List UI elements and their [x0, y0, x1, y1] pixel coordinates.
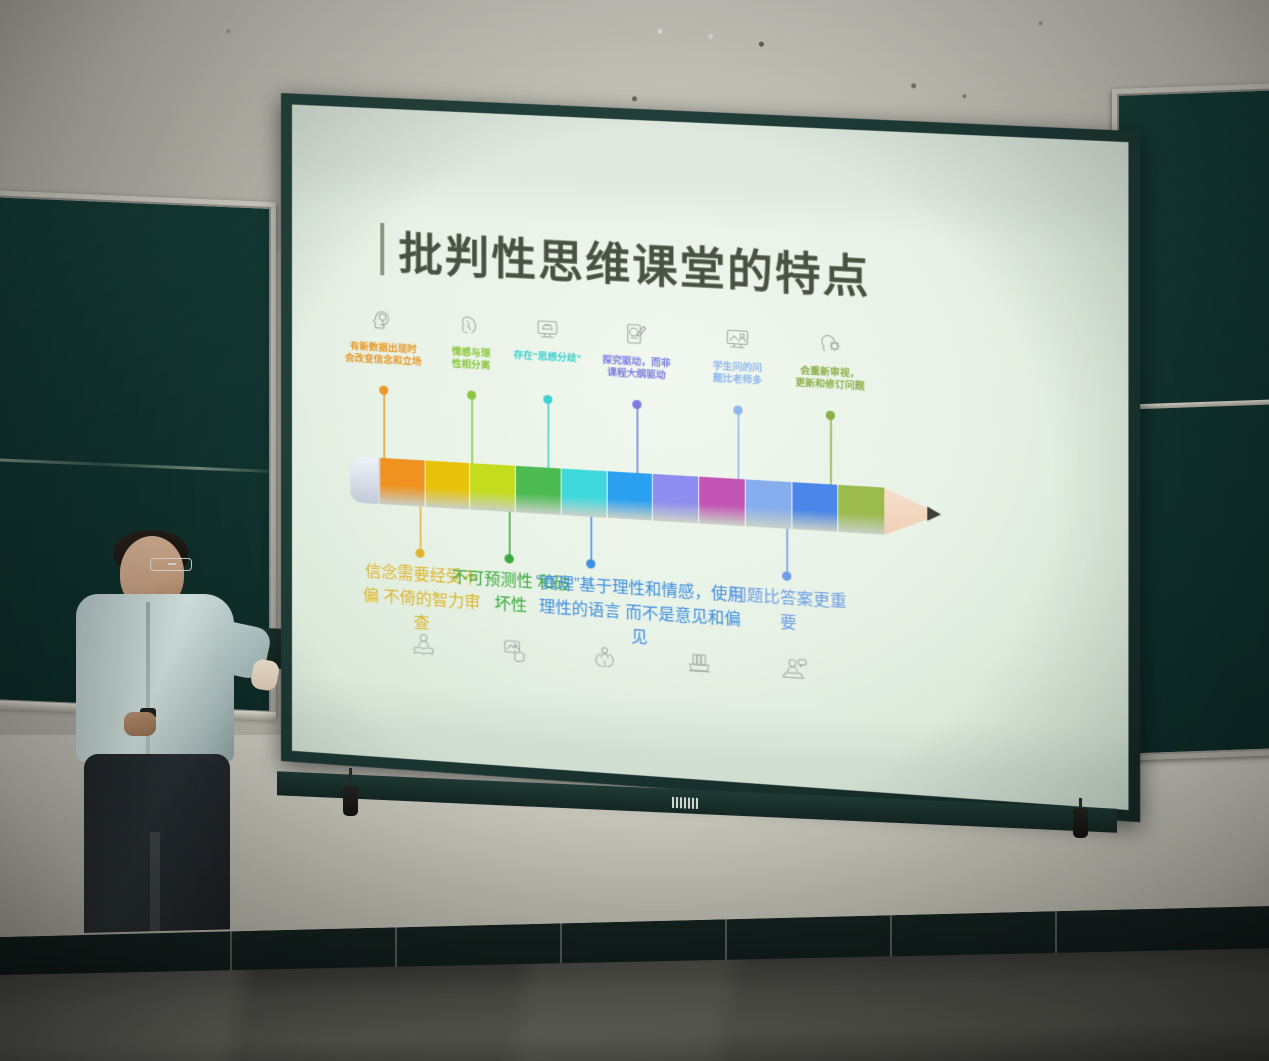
top-connector-3 — [547, 399, 549, 472]
bottom-node-label-4[interactable]: 问题比答案更重要 — [727, 580, 850, 637]
eyeglasses-icon — [150, 558, 192, 571]
title-accent-bar — [380, 223, 384, 275]
archive-books-icon — [686, 649, 713, 682]
bottom-connector-4 — [786, 529, 788, 576]
top-node-6[interactable]: 会重新审视， 更新和修订问题 — [773, 328, 888, 395]
pencil-segment-3 — [471, 463, 516, 512]
screen-weight-right[interactable] — [1073, 808, 1088, 838]
page-title: 批判性思维课堂的特点 — [398, 218, 870, 307]
bottom-connector-dot-3 — [586, 559, 595, 569]
presenter-right-hand — [250, 658, 281, 692]
top-connector-1 — [383, 390, 385, 462]
brain-gear-icon — [773, 328, 888, 366]
pencil-infographic: 有新数据出现时 会改变信念和立场情感与理 性相分离存在“思想分歧”探究驱动，而非… — [332, 305, 1086, 686]
pencil-segment-6 — [607, 471, 653, 520]
presenter-shirt — [76, 594, 234, 762]
top-connector-6 — [830, 415, 832, 489]
pencil-segment-4 — [516, 466, 562, 515]
chalkboard-divider — [1119, 399, 1269, 410]
slide-title-block: 批判性思维课堂的特点 — [380, 217, 1086, 318]
pencil-eraser — [350, 456, 380, 504]
top-node-label-4: 探究驱动，而非 课程大纲驱动 — [580, 353, 693, 384]
top-connector-5 — [737, 410, 739, 483]
pencil-segment-1 — [380, 458, 425, 507]
presenter-left-hand — [124, 712, 156, 736]
top-connector-2 — [471, 395, 473, 468]
top-node-label-6: 会重新审视， 更新和修订问题 — [773, 364, 888, 395]
pencil-segment-8 — [699, 477, 745, 527]
top-connector-dot-3 — [543, 395, 552, 405]
bottom-connector-1 — [420, 506, 422, 552]
bottom-connector-2 — [509, 512, 511, 559]
top-connector-dot-2 — [467, 390, 476, 400]
pencil-segment-10 — [792, 482, 839, 532]
bottom-connector-dot-2 — [505, 554, 514, 564]
projection-screen-frame: 批判性思维课堂的特点 有新数据出现时 会改变信念和立场情感与理 性相分离存在“思… — [281, 93, 1140, 822]
pencil-graphic — [350, 456, 941, 538]
document-pen-icon — [580, 318, 693, 355]
person-laptop-chat-icon — [781, 655, 808, 688]
presentation-slide: 批判性思维课堂的特点 有新数据出现时 会改变信念和立场情感与理 性相分离存在“思… — [292, 104, 1128, 810]
pencil-segment-7 — [653, 474, 699, 523]
projection-screen-assembly: 批判性思维课堂的特点 有新数据出现时 会改变信念和立场情感与理 性相分离存在“思… — [281, 93, 1140, 822]
bottom-connector-dot-1 — [416, 548, 425, 558]
projection-screen-surface: 批判性思维课堂的特点 有新数据出现时 会改变信念和立场情感与理 性相分离存在“思… — [292, 104, 1128, 810]
hands-nurture-icon — [591, 642, 618, 675]
bottom-connector-dot-4 — [782, 571, 791, 581]
top-node-4[interactable]: 探究驱动，而非 课程大纲驱动 — [580, 318, 693, 384]
top-connector-dot-4 — [632, 400, 641, 410]
screen-brand-logo — [672, 797, 698, 809]
person-reading-book-icon — [410, 631, 436, 664]
pencil-segment-9 — [746, 479, 792, 529]
shirt-placket — [146, 602, 150, 762]
hand-screen-icon — [502, 636, 528, 669]
bottom-node-label-3[interactable]: “真理”基于理性和情感，使用理性的语言 而不是意见和偏见 — [532, 568, 748, 655]
top-connector-4 — [636, 404, 638, 477]
classroom-scene: 批判性思维课堂的特点 有新数据出现时 会改变信念和立场情感与理 性相分离存在“思… — [0, 0, 1269, 1061]
top-connector-dot-5 — [733, 405, 742, 415]
pencil-lead-icon — [927, 507, 941, 522]
pencil-segment-5 — [562, 469, 608, 518]
screen-weight-left[interactable] — [343, 786, 358, 816]
pencil-segment-2 — [425, 461, 470, 510]
bottom-connector-3 — [590, 517, 592, 564]
top-connector-dot-1 — [379, 386, 388, 396]
top-connector-dot-6 — [826, 411, 835, 421]
pencil-segment-11 — [839, 485, 885, 535]
pencil-segment-group — [380, 458, 884, 535]
